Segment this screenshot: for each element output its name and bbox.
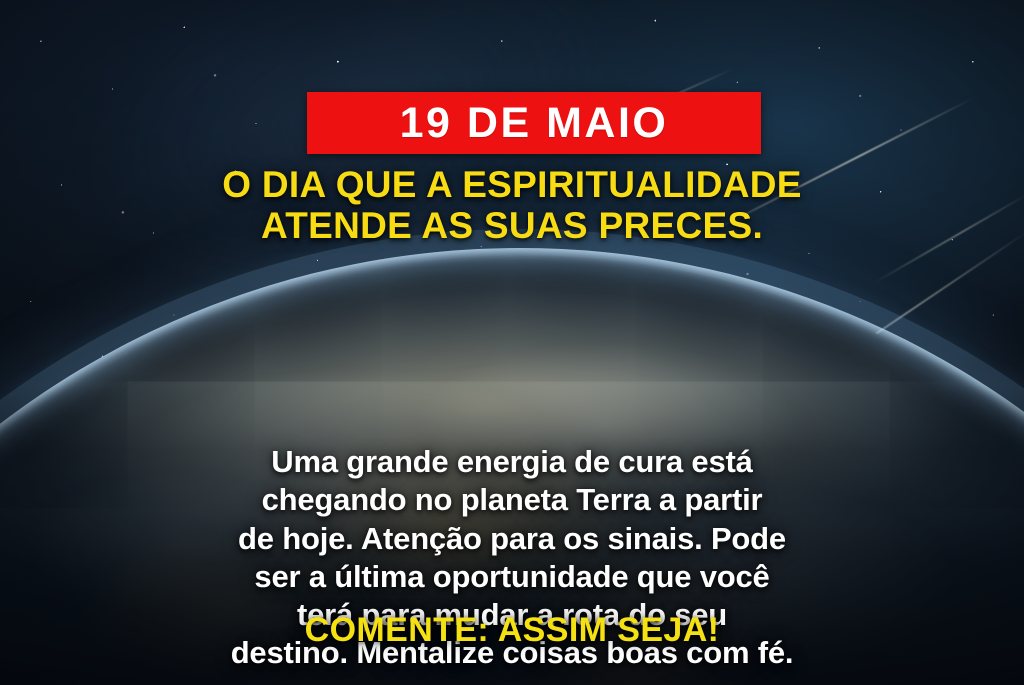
headline-line-2: ATENDE AS SUAS PRECES. bbox=[30, 205, 994, 246]
body-line-3: de hoje. Atenção para os sinais. Pode bbox=[34, 520, 990, 558]
body-line-2: chegando no planeta Terra a partir bbox=[34, 481, 990, 519]
headline-line-1: O DIA QUE A ESPIRITUALIDADE bbox=[30, 164, 994, 205]
body-line-4: ser a última oportunidade que você bbox=[34, 558, 990, 596]
date-banner: 19 DE MAIO bbox=[307, 92, 761, 154]
headline: O DIA QUE A ESPIRITUALIDADE ATENDE AS SU… bbox=[0, 164, 1024, 247]
call-to-action-label: COMENTE: ASSIM SEJA! bbox=[305, 611, 720, 649]
body-line-1: Uma grande energia de cura está bbox=[34, 443, 990, 481]
call-to-action: COMENTE: ASSIM SEJA! bbox=[0, 612, 1024, 649]
date-banner-label: 19 DE MAIO bbox=[400, 102, 669, 145]
poster-image: 19 DE MAIO O DIA QUE A ESPIRITUALIDADE A… bbox=[0, 0, 1024, 685]
poster-content: 19 DE MAIO O DIA QUE A ESPIRITUALIDADE A… bbox=[0, 0, 1024, 685]
